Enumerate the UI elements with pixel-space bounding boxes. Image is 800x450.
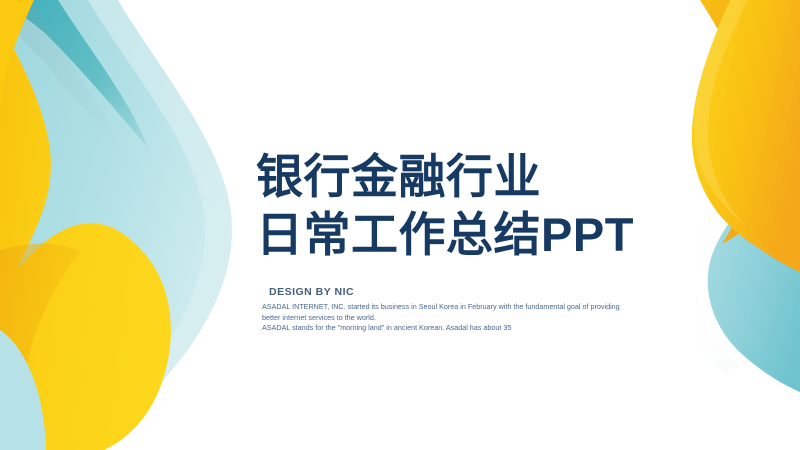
page-title-line-1: 银行金融行业 — [256, 148, 756, 206]
presentation-slide: 银行金融行业 日常工作总结PPT DESIGN BY NIC ASADAL IN… — [0, 0, 800, 450]
description-line-3: ASADAL stands for the "morning land" in … — [262, 323, 682, 334]
slide-content: 银行金融行业 日常工作总结PPT DESIGN BY NIC ASADAL IN… — [0, 0, 800, 450]
design-credit-label: DESIGN BY NIC — [269, 286, 354, 298]
page-title-line-2: 日常工作总结PPT — [256, 206, 756, 264]
title-block: 银行金融行业 日常工作总结PPT — [256, 148, 756, 264]
description-line-2: better internet services to the world. — [262, 313, 682, 324]
description-text: ASADAL INTERNET, INC. started its busine… — [262, 302, 682, 334]
description-line-1: ASADAL INTERNET, INC. started its busine… — [262, 302, 682, 313]
